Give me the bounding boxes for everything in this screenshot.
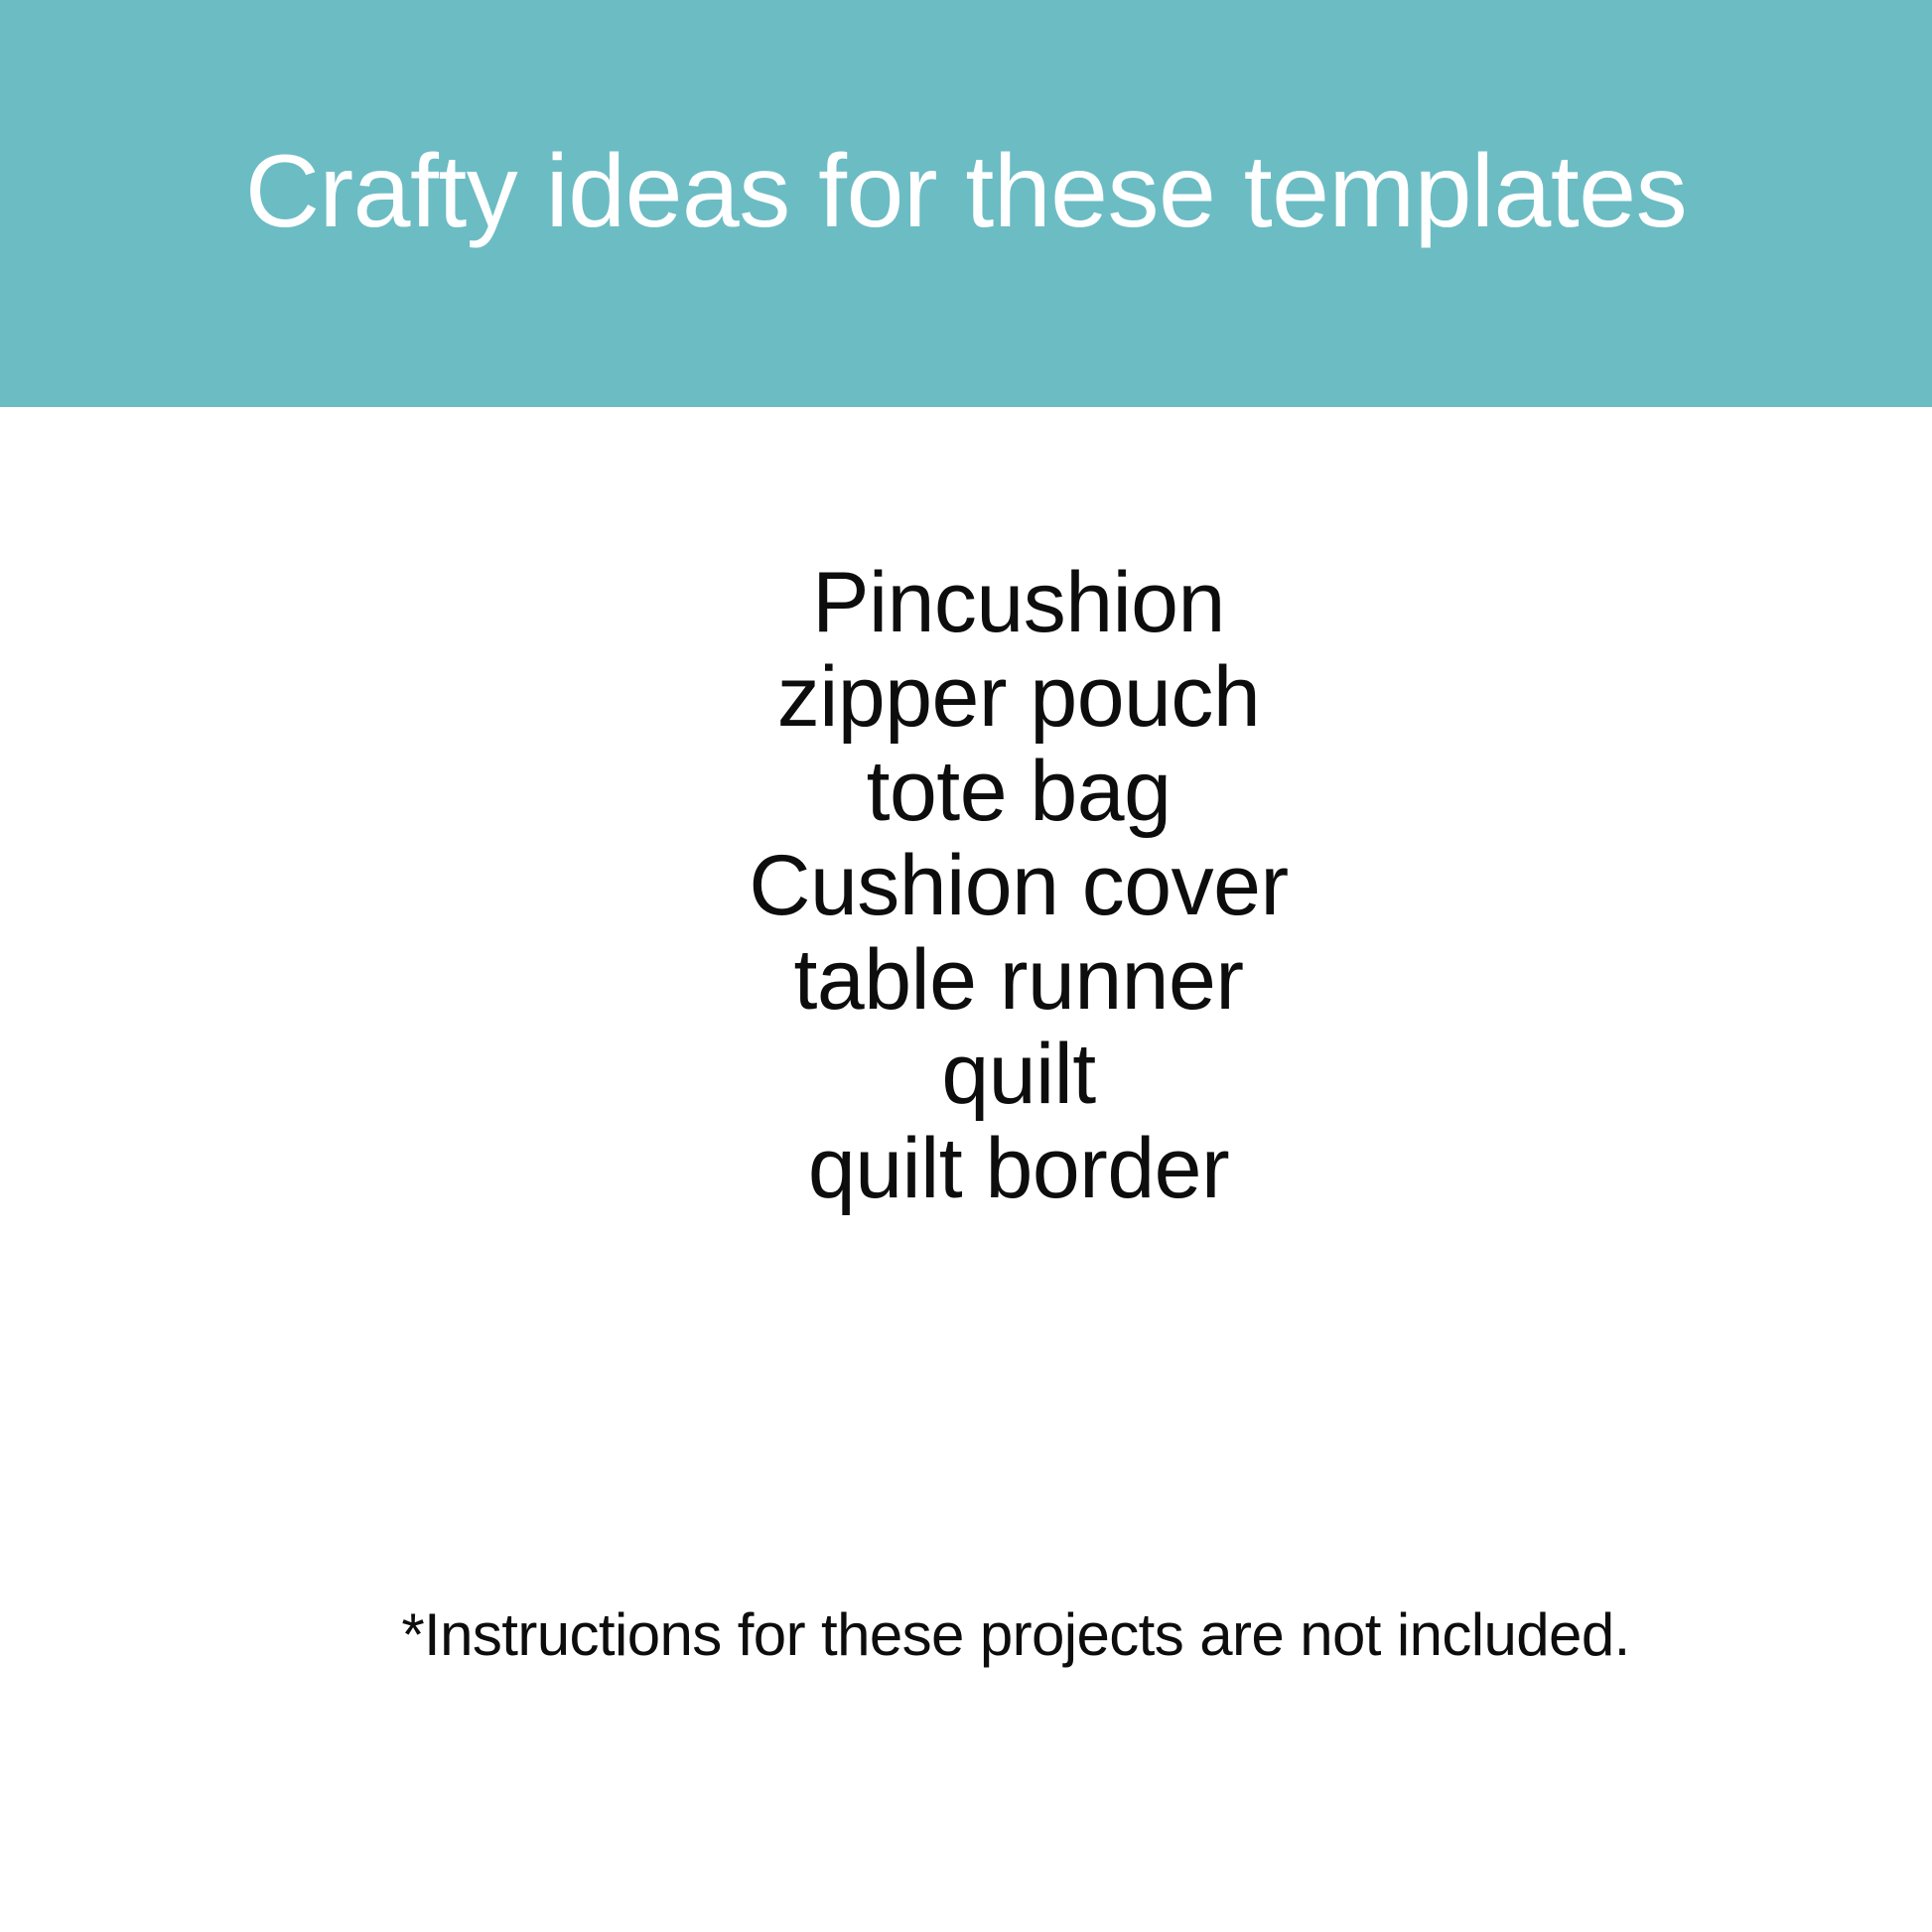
- header-banner: Crafty ideas for these templates: [0, 0, 1932, 407]
- list-item: quilt border: [0, 1122, 1932, 1216]
- list-item: table runner: [0, 933, 1932, 1028]
- list-item: Pincushion: [0, 556, 1932, 650]
- list-item: zipper pouch: [0, 650, 1932, 745]
- page-title: Crafty ideas for these templates: [245, 138, 1687, 246]
- footnote-disclaimer: *Instructions for these projects are not…: [0, 1600, 1932, 1670]
- list-item: quilt: [0, 1028, 1932, 1122]
- list-item: Cushion cover: [0, 839, 1932, 933]
- list-item: tote bag: [0, 745, 1932, 839]
- page-root: Crafty ideas for these templates Pincush…: [0, 0, 1932, 1932]
- ideas-list: Pincushion zipper pouch tote bag Cushion…: [0, 556, 1932, 1216]
